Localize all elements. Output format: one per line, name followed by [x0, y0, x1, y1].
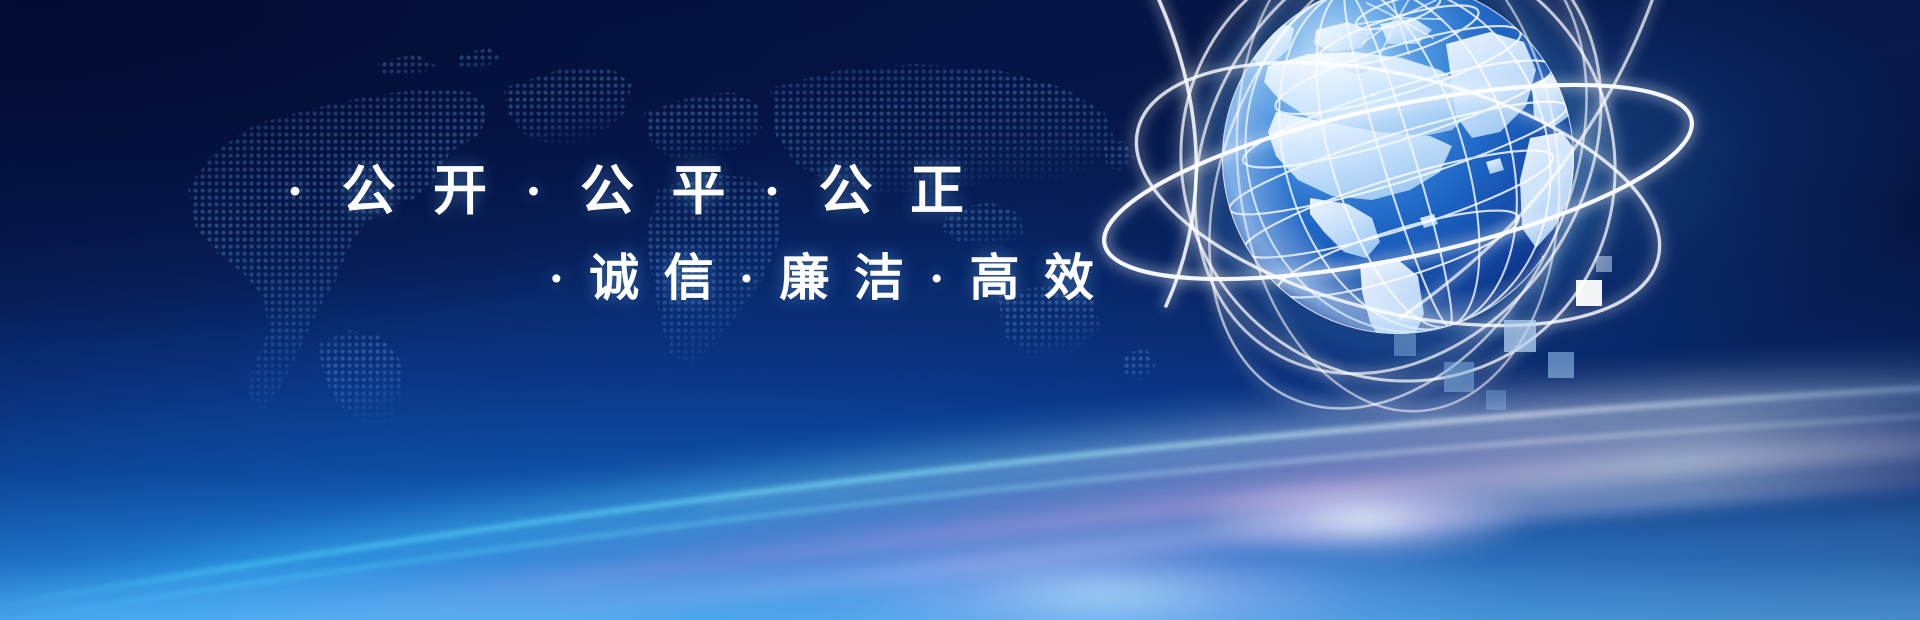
- light-wave-graphic: [0, 290, 1920, 620]
- banner-root: · 公 开 · 公 平 · 公 正 · 诚 信 · 廉 洁 · 高 效: [0, 0, 1920, 620]
- pixel-square: [1596, 256, 1612, 272]
- bottom-edge-glow: [0, 470, 1920, 620]
